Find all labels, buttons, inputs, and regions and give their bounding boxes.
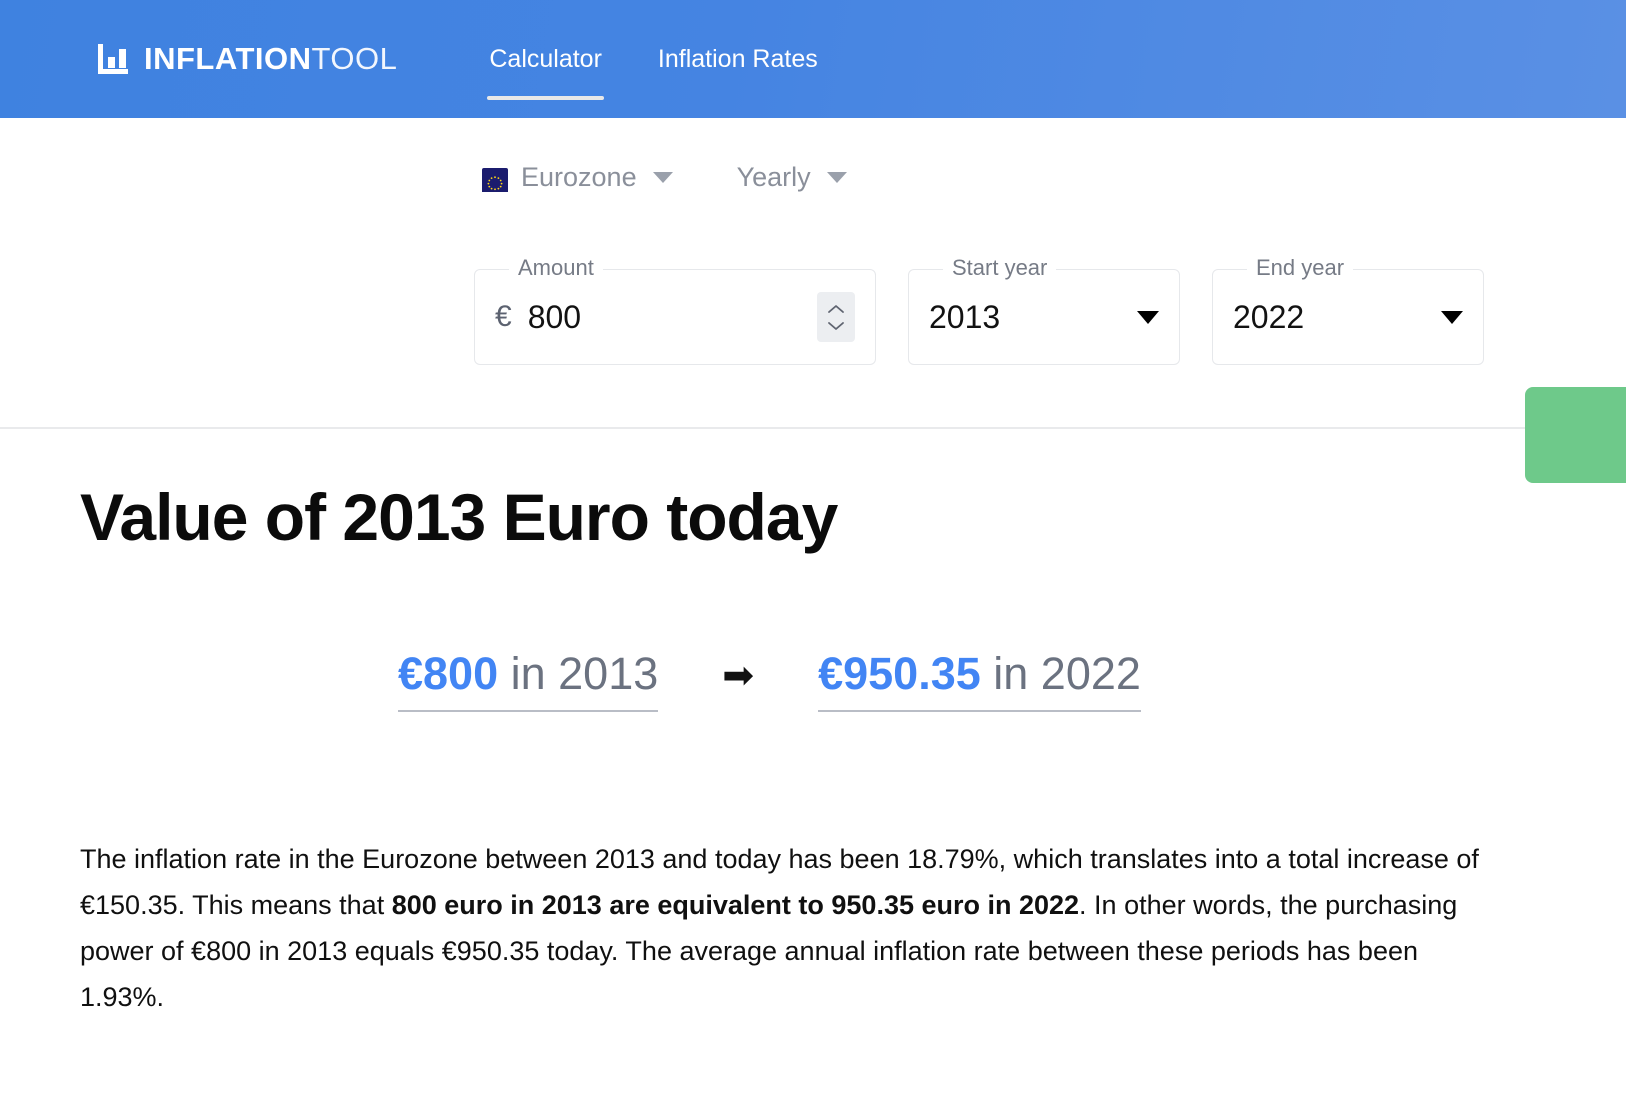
start-year-select[interactable]: Start year 2013 (908, 269, 1180, 365)
start-year-value: 2013 (929, 299, 1137, 336)
end-year-select[interactable]: End year 2022 (1212, 269, 1484, 365)
end-year-value: 2022 (1233, 299, 1441, 336)
bar-chart-icon (96, 42, 130, 76)
brand-text: INFLATIONTOOL (144, 41, 397, 77)
amount-legend: Amount (509, 255, 603, 281)
start-year-legend: Start year (943, 255, 1056, 281)
end-year-legend: End year (1247, 255, 1353, 281)
chevron-down-icon (1441, 311, 1463, 324)
fields-row: Amount € 800 Start year 2013 End year 20… (474, 269, 1484, 365)
calculator-panel: Eurozone Yearly Amount € 800 Start year (0, 118, 1626, 429)
region-selector[interactable]: Eurozone (482, 162, 673, 193)
result-content: Value of 2013 Euro today €800 in 2013 ➡ … (0, 431, 1626, 1020)
amount-stepper[interactable] (817, 292, 855, 342)
conversion-from-label: in 2013 (498, 648, 658, 699)
site-header: INFLATIONTOOL Calculator Inflation Rates (0, 0, 1626, 118)
conversion-from: €800 in 2013 (398, 648, 658, 712)
amount-input[interactable]: 800 (528, 299, 817, 336)
chevron-down-icon (1137, 311, 1159, 324)
amount-field[interactable]: Amount € 800 (474, 269, 876, 365)
selector-row: Eurozone Yearly (482, 162, 847, 193)
nav-item-calculator[interactable]: Calculator (487, 45, 604, 74)
main-nav: Calculator Inflation Rates (487, 0, 871, 118)
chevron-down-icon (653, 172, 673, 183)
conversion-from-amount: €800 (398, 648, 498, 699)
brand-name-bold: INFLATION (144, 41, 312, 76)
page-title: Value of 2013 Euro today (80, 481, 1546, 554)
stepper-up-icon (827, 304, 845, 314)
frequency-selector[interactable]: Yearly (737, 162, 847, 193)
brand-name-light: TOOL (312, 41, 398, 76)
conversion-to: €950.35 in 2022 (818, 648, 1141, 712)
nav-item-inflation-rates[interactable]: Inflation Rates (656, 45, 820, 74)
conversion-to-label: in 2022 (981, 648, 1141, 699)
explanation-paragraph: The inflation rate in the Eurozone betwe… (80, 836, 1500, 1020)
conversion-to-amount: €950.35 (818, 648, 981, 699)
frequency-label: Yearly (737, 162, 811, 193)
eu-flag-icon (482, 168, 508, 188)
conversion-summary: €800 in 2013 ➡ €950.35 in 2022 (398, 648, 1546, 712)
chevron-down-icon (827, 172, 847, 183)
region-label: Eurozone (521, 162, 637, 193)
arrow-right-icon: ➡ (722, 657, 754, 703)
explanation-bold: 800 euro in 2013 are equivalent to 950.3… (392, 890, 1079, 920)
brand-logo[interactable]: INFLATIONTOOL (96, 0, 397, 118)
currency-symbol: € (495, 300, 512, 334)
stepper-down-icon (827, 321, 845, 331)
